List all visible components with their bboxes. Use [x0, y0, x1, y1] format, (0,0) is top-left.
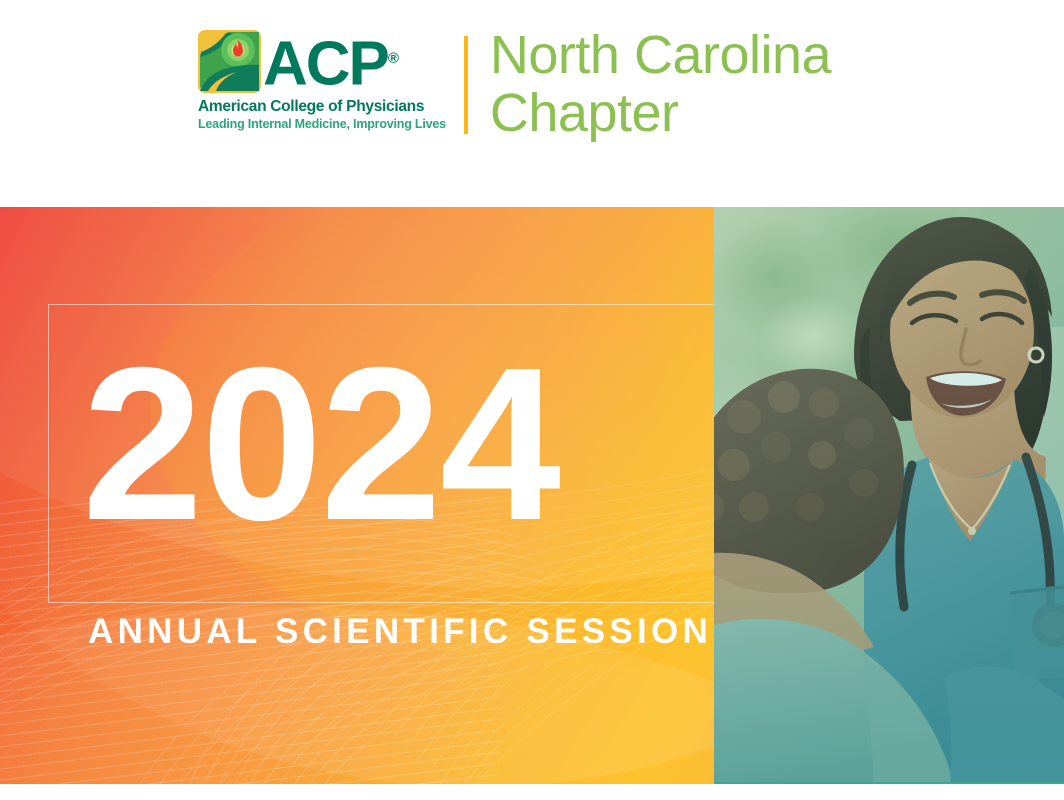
acp-acronym: ACP® — [263, 30, 399, 94]
acp-logo-block: ACP® American College of Physicians Lead… — [198, 30, 446, 131]
acp-logo-lockup[interactable]: ACP® American College of Physicians Lead… — [198, 30, 831, 142]
registered-trademark-icon: ® — [388, 50, 399, 67]
acp-organization-name: American College of Physicians — [198, 98, 424, 116]
footer-whitespace — [0, 784, 1064, 800]
chapter-name: North Carolina Chapter — [490, 26, 831, 142]
clinician-photo — [714, 207, 1064, 784]
poster-page: ACP® American College of Physicians Lead… — [0, 0, 1064, 800]
acp-logo-top-row: ACP® — [198, 30, 399, 94]
vertical-divider-icon — [464, 36, 468, 134]
acp-tagline: Leading Internal Medicine, Improving Liv… — [198, 117, 446, 131]
clinician-photo-illustration — [714, 207, 1064, 784]
hero-gradient-panel: 2024 ANNUAL SCIENTIFIC SESSION — [0, 207, 714, 784]
hero-banner: 2024 ANNUAL SCIENTIFIC SESSION — [0, 207, 1064, 784]
event-title: ANNUAL SCIENTIFIC SESSION — [88, 612, 712, 652]
header-bar: ACP® American College of Physicians Lead… — [0, 0, 1064, 207]
year-heading: 2024 — [82, 336, 559, 554]
acp-acronym-text: ACP — [263, 30, 388, 99]
acp-flame-mark-icon — [198, 30, 261, 93]
